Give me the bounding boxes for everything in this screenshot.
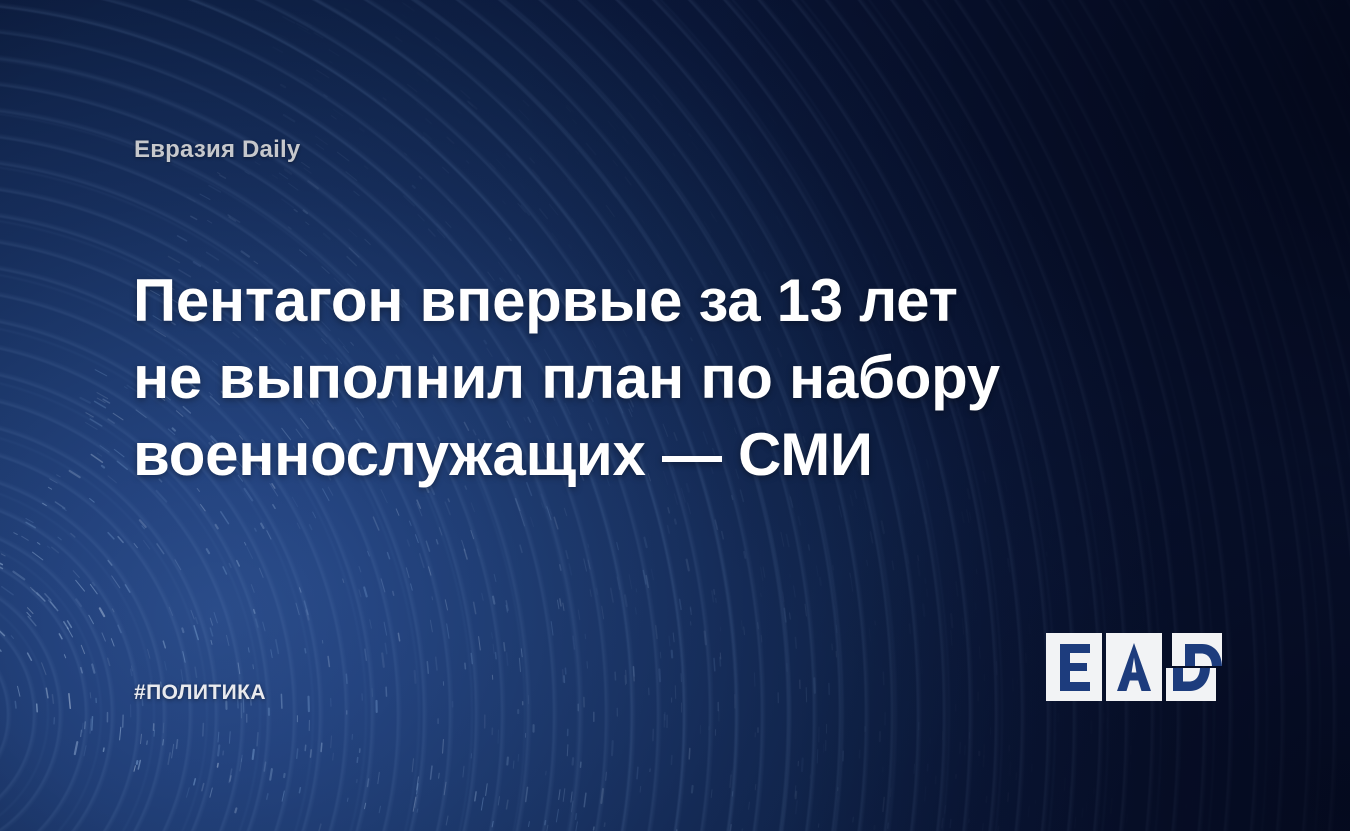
ead-logo[interactable] — [1046, 633, 1222, 701]
headline-line-1: Пентагон впервые за 13 лет — [133, 262, 973, 339]
logo-letter-d-bottom-icon — [1166, 668, 1216, 701]
card-content: Евразия Daily Пентагон впервые за 13 лет… — [0, 0, 1350, 831]
brand-name: Евразия Daily — [134, 136, 300, 164]
page-title: Пентагон впервые за 13 лет не выполнил п… — [133, 262, 973, 493]
logo-letter-d-top-icon — [1172, 633, 1222, 666]
category-hashtag[interactable]: #ПОЛИТИКА — [134, 681, 266, 705]
logo-letter-a-icon — [1106, 633, 1162, 701]
logo-tile-d-bottom-half — [1166, 668, 1222, 701]
logo-tile-a — [1106, 633, 1162, 701]
logo-letter-e-icon — [1046, 633, 1102, 701]
logo-tile-d-split — [1166, 633, 1222, 701]
logo-tile-d-top-half — [1166, 633, 1222, 666]
news-share-card: Евразия Daily Пентагон впервые за 13 лет… — [0, 0, 1350, 831]
headline-line-3: военнослужащих — СМИ — [133, 416, 973, 493]
logo-tile-e — [1046, 633, 1102, 701]
headline-line-2: не выполнил план по набору — [133, 339, 973, 416]
